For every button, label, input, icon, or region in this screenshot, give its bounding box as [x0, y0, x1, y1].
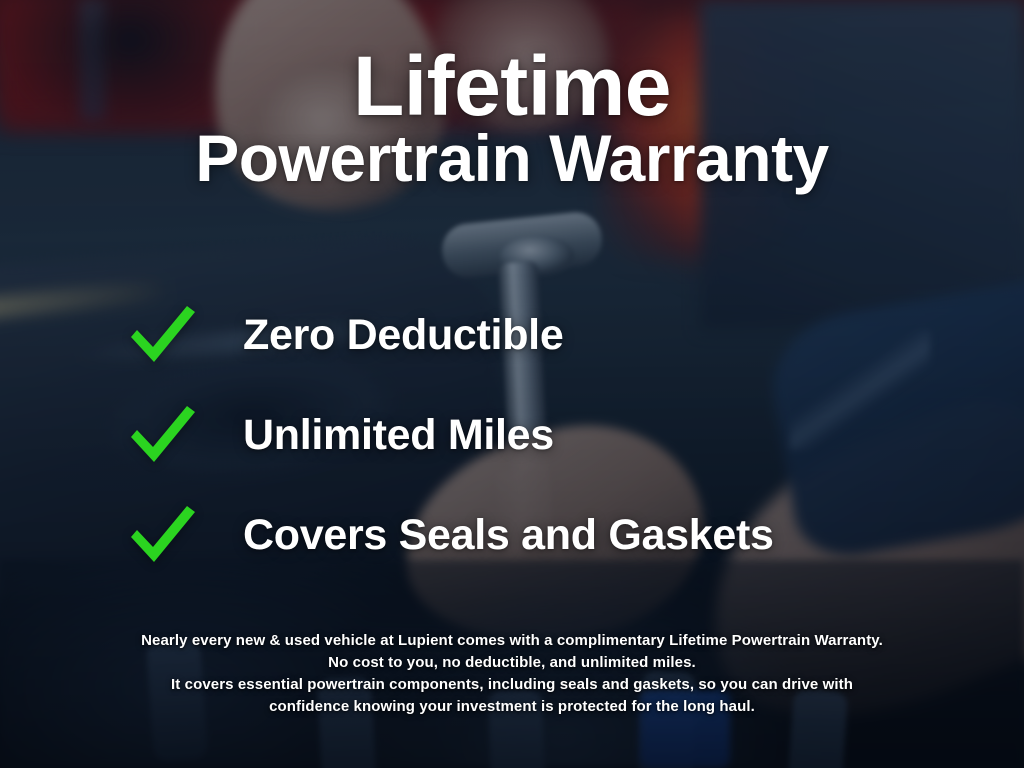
- check-icon: [127, 304, 197, 366]
- disclaimer-line: Nearly every new & used vehicle at Lupie…: [24, 630, 1000, 652]
- disclaimer-line: It covers essential powertrain component…: [24, 674, 1000, 696]
- banner-content: Lifetime Powertrain Warranty Zero Deduct…: [0, 0, 1024, 768]
- feature-item-covers-seals-and-gaskets: Covers Seals and Gaskets: [0, 485, 1024, 585]
- disclaimer-line: confidence knowing your investment is pr…: [24, 696, 1000, 718]
- feature-label: Zero Deductible: [243, 311, 563, 360]
- feature-item-unlimited-miles: Unlimited Miles: [0, 385, 1024, 485]
- page-title: Lifetime Powertrain Warranty: [0, 46, 1024, 190]
- check-icon: [127, 404, 197, 466]
- feature-label: Unlimited Miles: [243, 411, 554, 460]
- feature-list: Zero Deductible Unlimited Miles Covers S…: [0, 285, 1024, 585]
- headline-line-2: Powertrain Warranty: [0, 127, 1024, 190]
- disclaimer-text: Nearly every new & used vehicle at Lupie…: [0, 630, 1024, 718]
- feature-item-zero-deductible: Zero Deductible: [0, 285, 1024, 385]
- disclaimer-line: No cost to you, no deductible, and unlim…: [24, 652, 1000, 674]
- warranty-banner: Lifetime Powertrain Warranty Zero Deduct…: [0, 0, 1024, 768]
- headline-line-1: Lifetime: [0, 46, 1024, 127]
- feature-label: Covers Seals and Gaskets: [243, 511, 774, 560]
- check-icon: [127, 504, 197, 566]
